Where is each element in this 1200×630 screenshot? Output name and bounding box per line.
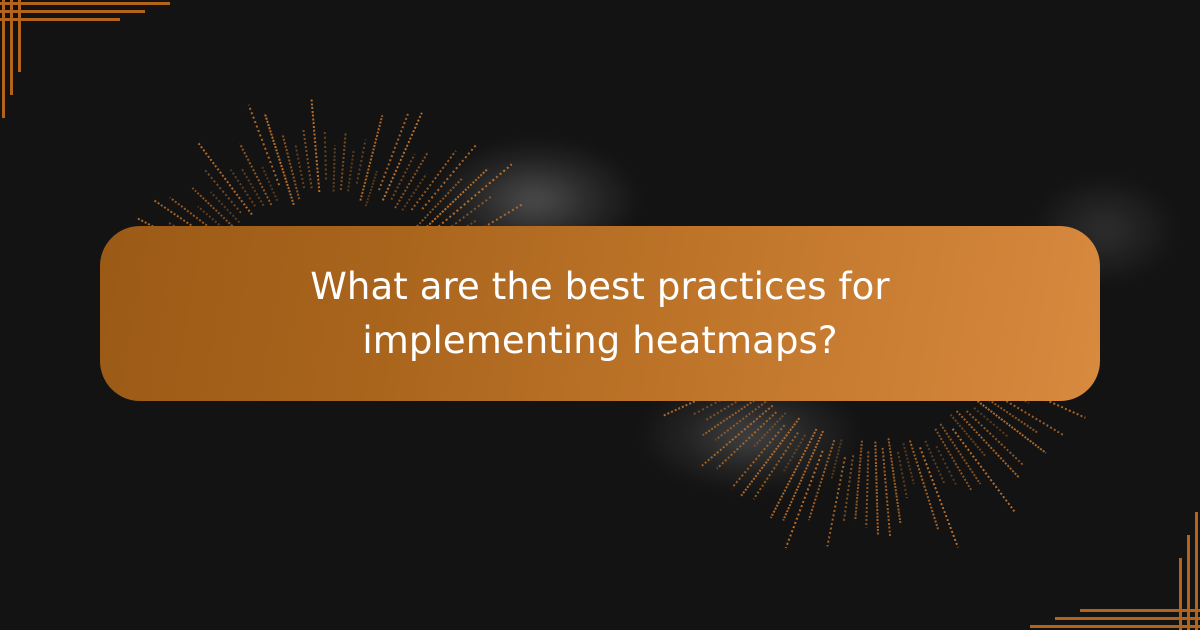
sunburst-ray [359, 115, 383, 200]
ornament-horizontal-line [1080, 609, 1200, 612]
sunburst-ray [753, 432, 799, 500]
sunburst-ray [239, 143, 272, 206]
sunburst-ray [854, 441, 863, 520]
sunburst-ray [874, 442, 879, 535]
sunburst-ray [378, 113, 409, 190]
sunburst-ray [356, 140, 367, 184]
sunburst-ray [333, 146, 336, 192]
headline-banner: What are the best practices for implemen… [100, 226, 1100, 401]
ornament-vertical-line [18, 0, 21, 72]
sunburst-ray [909, 440, 939, 529]
sunburst-ray [418, 168, 488, 235]
sunburst-ray [770, 428, 817, 518]
sunburst-ray [302, 129, 312, 188]
share-card: What are the best practices for implemen… [0, 0, 1200, 630]
sunburst-ray [934, 428, 972, 491]
sunburst-ray [261, 166, 278, 201]
sunburst-ray [782, 431, 824, 521]
ornament-vertical-line [10, 0, 13, 95]
sunburst-ray [919, 447, 959, 548]
sunburst-ray [210, 191, 240, 223]
sunburst-ray [865, 451, 869, 527]
sunburst-ray [230, 169, 256, 207]
sunburst-ray [741, 417, 800, 496]
sunburst-ray [973, 407, 1008, 437]
sunburst-ray [783, 434, 806, 471]
sunburst-ray [826, 457, 846, 546]
sunburst-ray [411, 150, 457, 211]
sunburst-ray [394, 151, 429, 208]
sunburst-ray [956, 410, 1020, 478]
sunburst-ray [438, 164, 512, 228]
ornament-vertical-line [2, 0, 5, 118]
ornament-horizontal-line [0, 2, 170, 5]
sunburst-ray [421, 144, 477, 210]
sunburst-ray [831, 439, 843, 479]
ornament-vertical-line [1179, 558, 1182, 630]
sunburst-ray [808, 440, 835, 521]
corner-ornament-bottom-right [1000, 480, 1200, 630]
sunburst-ray [310, 98, 320, 192]
sunburst-ray [365, 171, 378, 207]
sunburst-ray [897, 452, 908, 498]
sunburst-ray [731, 425, 785, 489]
page-title: What are the best practices for implemen… [210, 260, 990, 367]
sunburst-ray [416, 177, 463, 227]
sunburst-ray [294, 144, 305, 189]
sunburst-ray [887, 438, 901, 524]
ornament-horizontal-line [1030, 625, 1200, 628]
sunburst-ray [204, 169, 242, 213]
sunburst-ray [715, 398, 769, 440]
ornament-vertical-line [1195, 512, 1198, 630]
sunburst-ray [966, 392, 1046, 454]
sunburst-ray [401, 173, 427, 211]
sunburst-ray [882, 448, 891, 536]
sunburst-ray [702, 405, 774, 467]
corner-ornament-top-left [0, 0, 200, 150]
sunburst-ray [390, 154, 415, 200]
sunburst-ray [340, 132, 347, 190]
sunburst-ray [902, 443, 914, 485]
sunburst-ray [843, 455, 854, 523]
sunburst-ray [248, 105, 280, 186]
sunburst-ray [241, 168, 265, 206]
sunburst-ray [716, 411, 777, 469]
sunburst-ray [753, 412, 786, 447]
sunburst-ray [347, 151, 355, 192]
sunburst-ray [940, 423, 981, 484]
sunburst-ray [924, 440, 945, 484]
sunburst-ray [966, 410, 1024, 465]
sunburst-ray [935, 446, 956, 485]
sunburst-ray [324, 131, 327, 179]
sunburst-ray [264, 113, 295, 205]
sunburst-ray [282, 134, 301, 199]
sunburst-ray [950, 414, 986, 457]
sunburst-ray [382, 112, 423, 200]
sunburst-ray [785, 450, 824, 548]
ornament-vertical-line [1187, 535, 1190, 630]
sunburst-ray [198, 142, 253, 215]
ornament-horizontal-line [0, 10, 145, 13]
